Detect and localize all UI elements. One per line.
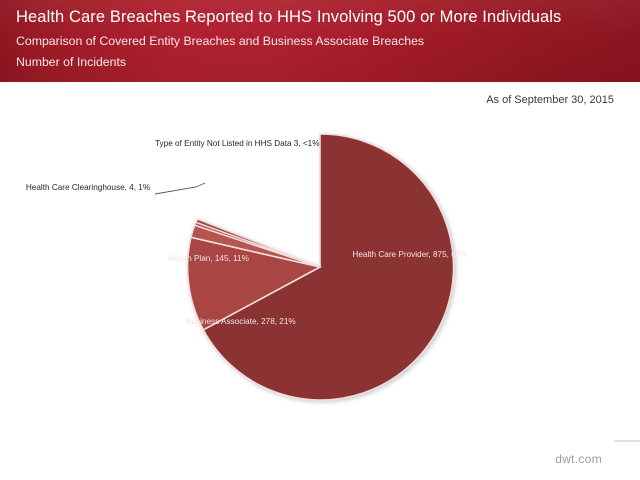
footer-brand-label: dwt.com [555, 452, 602, 466]
pie-slice-group [188, 134, 454, 400]
pie-chart-svg [0, 82, 640, 432]
page-title: Health Care Breaches Reported to HHS Inv… [16, 8, 561, 27]
footer-divider [614, 440, 640, 442]
pie-chart: Health Care Provider, 875, 67% Business … [0, 82, 640, 432]
page-subtitle-secondary: Number of Incidents [16, 55, 126, 69]
page-subtitle-primary: Comparison of Covered Entity Breaches an… [16, 34, 424, 48]
title-banner: Health Care Breaches Reported to HHS Inv… [0, 0, 640, 82]
leader-line-clearinghouse [155, 183, 205, 194]
pie-label-type-not-listed: Type of Entity Not Listed in HHS Data 3,… [155, 139, 211, 150]
pie-label-health-care-clearinghouse: Health Care Clearinghouse, 4, 1% [18, 183, 158, 194]
pie-label-business-associate: Business Associate, 278, 21% [186, 317, 306, 328]
pie-label-health-care-provider: Health Care Provider, 875, 67% [345, 250, 475, 261]
pie-label-health-plan: Health Plan, 145, 11% [168, 254, 263, 265]
